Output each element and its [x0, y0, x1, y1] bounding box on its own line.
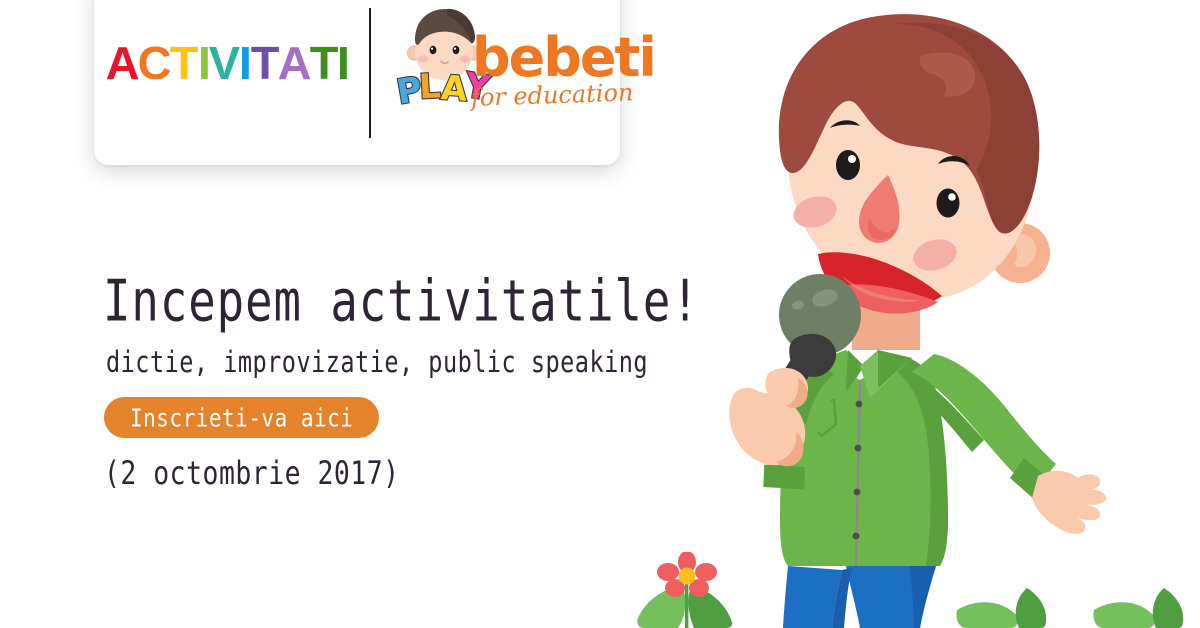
playbebeti-logo: P L A Y bebeti for education: [391, 6, 609, 136]
for-education-tagline: for education: [471, 78, 634, 112]
left-eye: [836, 150, 860, 180]
pants: [783, 566, 936, 628]
activitati-letter-7: A: [278, 40, 311, 86]
page-title: Incepem activitatile!: [103, 268, 700, 335]
activitati-letter-4: V: [209, 40, 239, 86]
activitati-letter-1: C: [138, 40, 171, 86]
mic-hand: [729, 368, 808, 466]
activitati-letter-5: I: [239, 40, 251, 86]
right-eye: [937, 189, 960, 218]
signup-button-label: Inscrieti-va aici: [130, 403, 353, 431]
leaf-pair-right-icon: [1092, 586, 1200, 628]
logo-divider: [369, 8, 371, 138]
activitati-letter-0: A: [106, 40, 139, 86]
signup-button[interactable]: Inscrieti-va aici: [104, 397, 379, 438]
activitati-letter-6: T: [251, 40, 279, 86]
play-letter-l: L: [418, 69, 441, 104]
activitati-letter-9: I: [337, 40, 349, 86]
poster-canvas: ACTIVITATI: [0, 0, 1200, 628]
logo-card-inner: ACTIVITATI: [94, 0, 620, 165]
boy-singing-illustration: [620, 0, 1200, 628]
logo-card: ACTIVITATI: [94, 0, 620, 165]
leaf-pair-left-icon: [955, 586, 1065, 628]
activitati-letter-2: T: [170, 40, 198, 86]
boy-head: [779, 14, 1050, 313]
activitati-letter-3: I: [197, 40, 209, 86]
flower-decoration-icon: [628, 552, 748, 628]
right-hand: [1032, 471, 1106, 534]
subtitle: dictie, improvizatie, public speaking: [106, 345, 648, 379]
event-date: (2 octombrie 2017): [104, 455, 400, 492]
activitati-wordmark: ACTIVITATI: [106, 40, 366, 86]
activitati-letter-8: T: [310, 40, 338, 86]
